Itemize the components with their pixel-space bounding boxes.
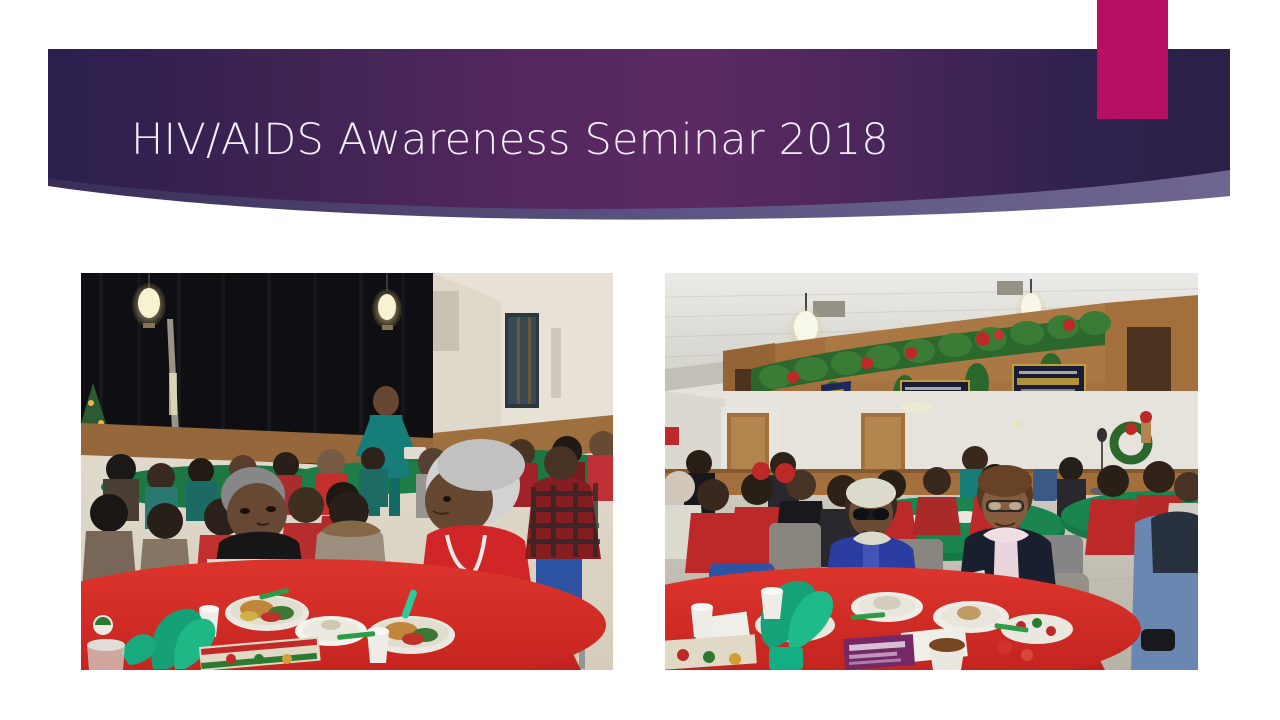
page-title: HIV/AIDS Awareness Seminar 2018 bbox=[131, 108, 1081, 172]
slide-canvas: HIV/AIDS Awareness Seminar 2018 bbox=[0, 0, 1280, 720]
photo-right bbox=[665, 273, 1198, 670]
page-title-text: HIV/AIDS Awareness Seminar 2018 bbox=[131, 119, 889, 162]
accent-rectangle bbox=[1097, 0, 1168, 119]
photo-left bbox=[81, 273, 613, 670]
